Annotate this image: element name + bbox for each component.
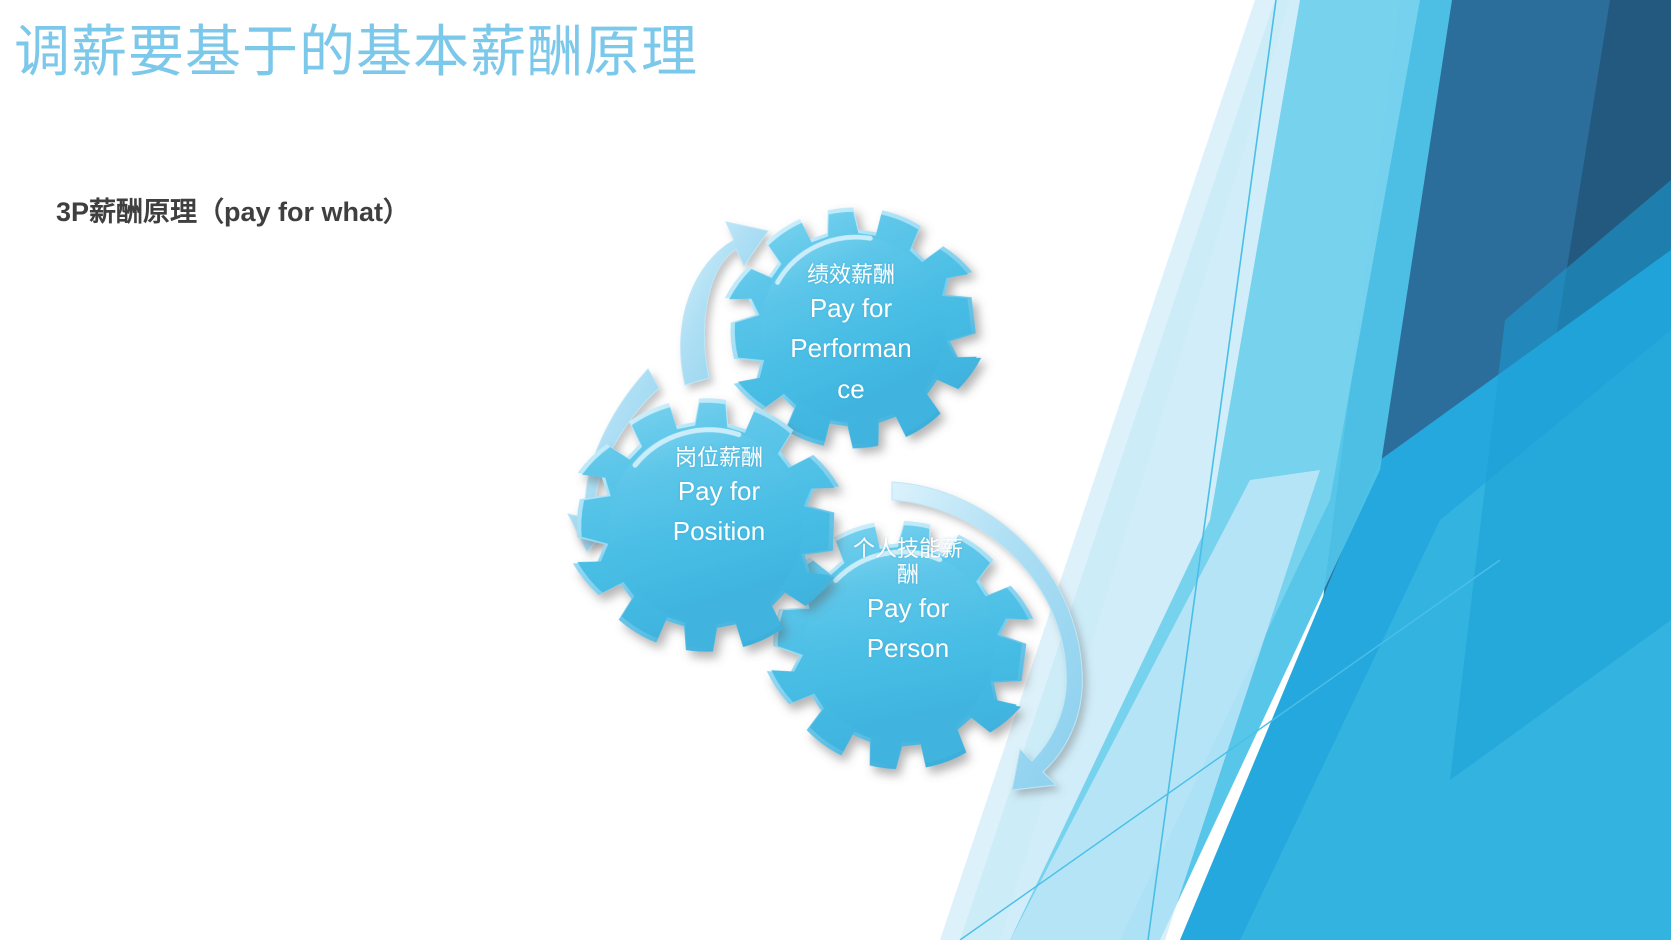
page-title: 调薪要基于的基本薪酬原理: [14, 20, 698, 86]
decor-shape-cyan-deep: [1180, 250, 1671, 940]
decor-shape-cyan-accent: [1450, 180, 1671, 780]
decor-hairline-vertical: [1148, 0, 1276, 940]
gear-cycle-diagram: 绩效薪酬 Pay for Performan ce 岗位薪酬 Pay for P…: [520, 200, 1160, 820]
decor-shape-bright-cyan: [1240, 330, 1671, 940]
decor-shape-blue: [1310, 0, 1610, 700]
slide-canvas: 调薪要基于的基本薪酬原理 3P薪酬原理（pay for what）: [0, 0, 1671, 940]
subtitle-text: 3P薪酬原理（pay for what）: [56, 190, 410, 229]
decor-shape-dark-blue: [1430, 0, 1671, 940]
